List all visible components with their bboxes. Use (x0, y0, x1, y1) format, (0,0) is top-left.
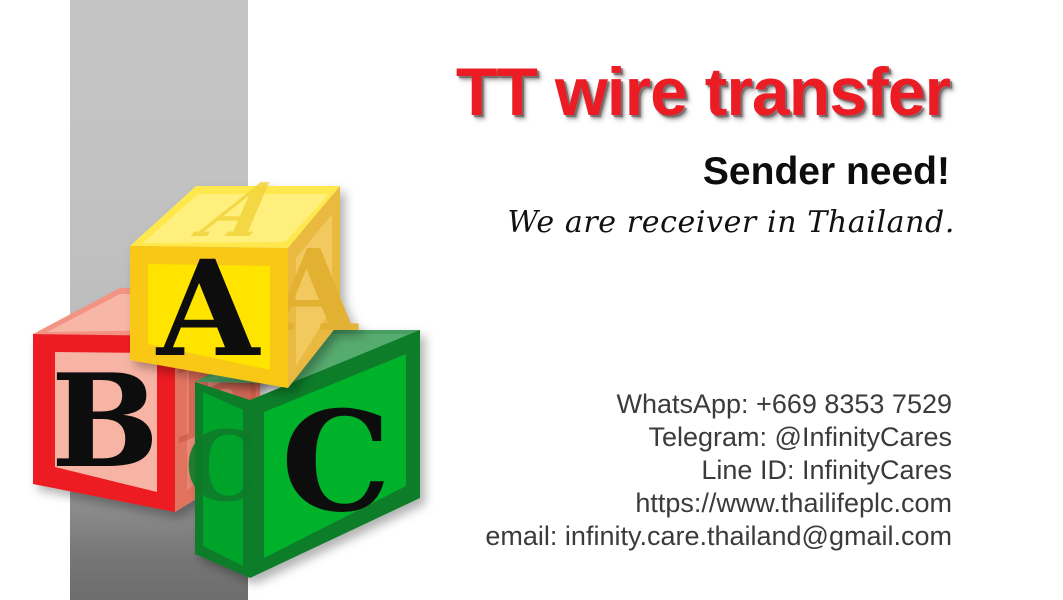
contact-line-id: Line ID: InfinityCares (485, 454, 952, 487)
contact-details: WhatsApp: +669 8353 7529 Telegram: @Infi… (485, 388, 952, 553)
page-title: TT wire transfer (456, 56, 950, 128)
contact-whatsapp: WhatsApp: +669 8353 7529 (485, 388, 952, 421)
text-column: TT wire transfer Sender need! We are rec… (250, 0, 1063, 600)
business-card-canvas: B B C C C (0, 0, 1063, 600)
contact-website[interactable]: https://www.thailifeplc.com (485, 487, 952, 520)
block-letter-a: A (155, 232, 261, 387)
subtitle: Sender need! (703, 150, 950, 194)
tagline: We are receiver in Thailand. (507, 204, 955, 242)
contact-email[interactable]: email: infinity.care.thailand@gmail.com (485, 520, 952, 553)
block-letter-b: B (51, 347, 159, 497)
contact-telegram: Telegram: @InfinityCares (485, 421, 952, 454)
